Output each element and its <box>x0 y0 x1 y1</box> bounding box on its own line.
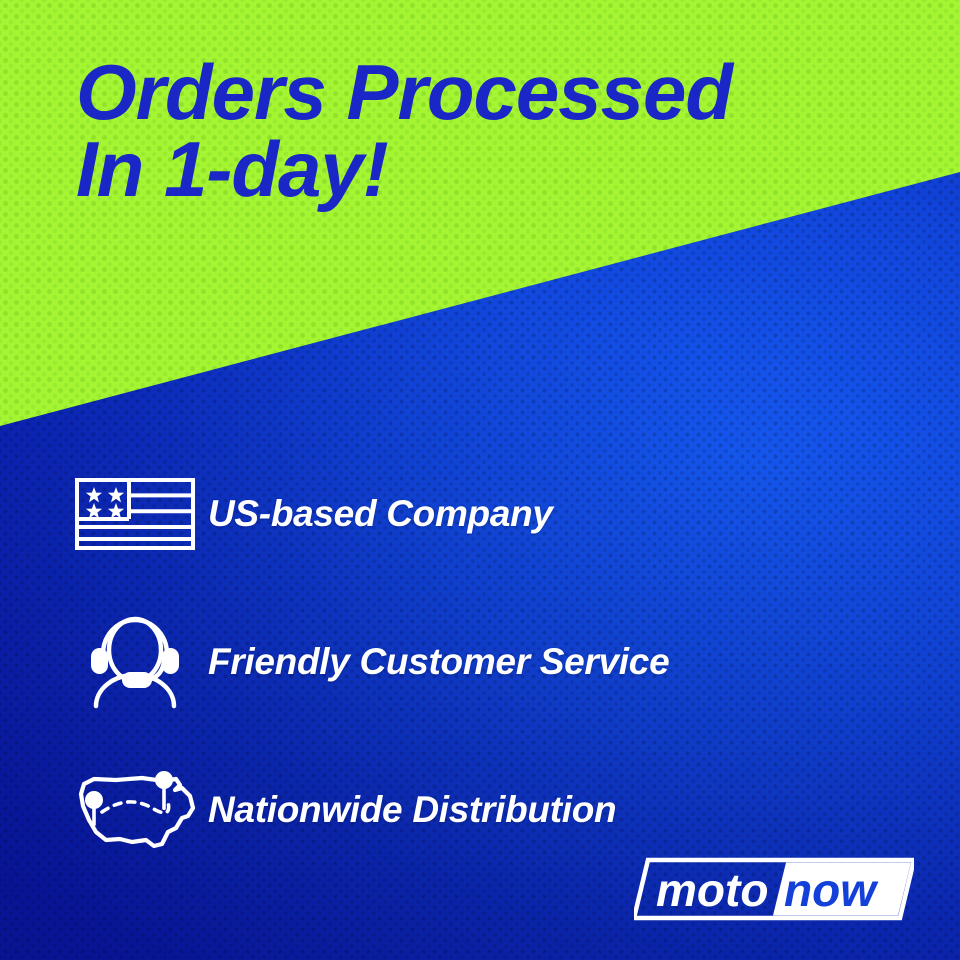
headline-line-2: In 1-day! <box>76 133 936 206</box>
logo-text-moto: moto <box>656 864 768 916</box>
headset-support-icon <box>72 614 208 710</box>
feature-label: US-based Company <box>208 493 553 535</box>
feature-row: US-based Company <box>72 440 912 588</box>
feature-row: Friendly Customer Service <box>72 588 912 736</box>
feature-label: Friendly Customer Service <box>208 641 669 683</box>
headline: Orders Processed In 1-day! <box>76 56 936 205</box>
us-map-route-icon <box>72 766 208 854</box>
promo-banner: Orders Processed In 1-day! <box>0 0 960 960</box>
feature-label: Nationwide Distribution <box>208 789 616 831</box>
us-flag-icon <box>72 475 208 553</box>
feature-list: US-based Company <box>72 440 912 884</box>
motonow-logo[interactable]: moto now <box>634 856 914 922</box>
headline-line-1: Orders Processed <box>76 56 936 129</box>
logo-text-now: now <box>784 864 879 916</box>
